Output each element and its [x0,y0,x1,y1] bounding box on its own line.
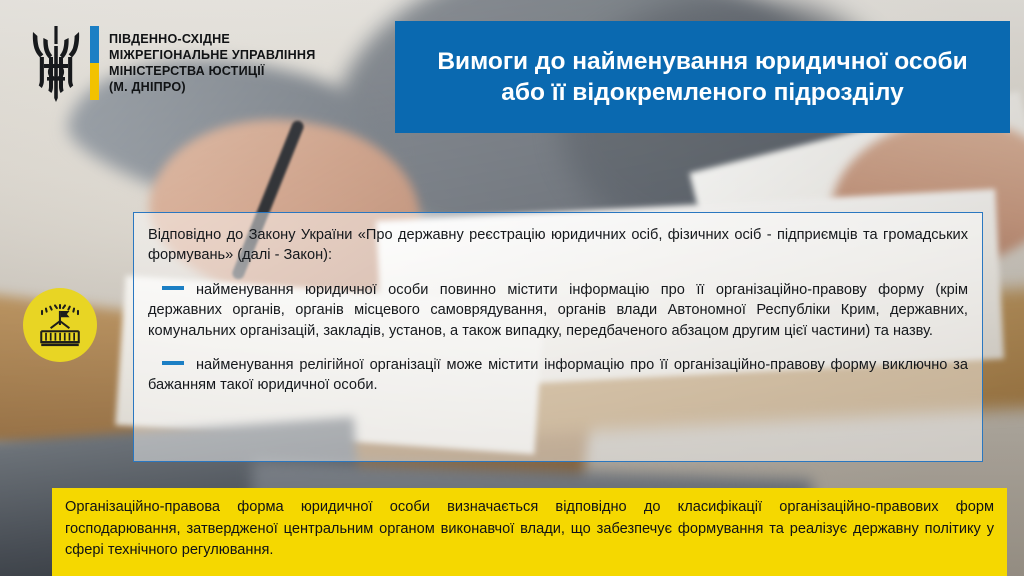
ukraine-trident-icon [28,24,84,102]
government-building-flag-icon [35,300,85,350]
org-name-line-3: МІНІСТЕРСТВА ЮСТИЦІЇ [109,63,315,79]
ukraine-flag-bar-icon [90,26,99,100]
organization-name: ПІВДЕННО-СХІДНЕ МІЖРЕГІОНАЛЬНЕ УПРАВЛІНН… [109,31,315,96]
bullet-2-text: найменування релігійної організації може… [148,357,968,393]
slide-root: ПІВДЕННО-СХІДНЕ МІЖРЕГІОНАЛЬНЕ УПРАВЛІНН… [0,0,1024,576]
org-name-line-1: ПІВДЕННО-СХІДНЕ [109,31,315,47]
footer-highlight-box: Організаційно-правова форма юридичної ос… [52,488,1007,576]
main-content-box: Відповідно до Закону України «Про держав… [133,212,983,462]
organization-logo: ПІВДЕННО-СХІДНЕ МІЖРЕГІОНАЛЬНЕ УПРАВЛІНН… [28,24,315,102]
slide-title: Вимоги до найменування юридичної особи а… [413,46,992,108]
slide-title-banner: Вимоги до найменування юридичної особи а… [395,21,1010,133]
org-name-line-2: МІЖРЕГІОНАЛЬНЕ УПРАВЛІННЯ [109,47,315,63]
bullet-item-2: найменування релігійної організації може… [148,355,968,396]
blue-dash-bullet-icon [162,286,184,290]
org-name-line-4: (М. ДНІПРО) [109,79,315,95]
intro-paragraph: Відповідно до Закону України «Про держав… [148,225,968,266]
bullet-item-1: найменування юридичної особи повинно міс… [148,280,968,341]
footer-text: Організаційно-правова форма юридичної ос… [65,497,994,562]
bullet-1-text: найменування юридичної особи повинно міс… [148,282,968,339]
blue-dash-bullet-icon [162,361,184,365]
government-emblem-badge [23,288,97,362]
